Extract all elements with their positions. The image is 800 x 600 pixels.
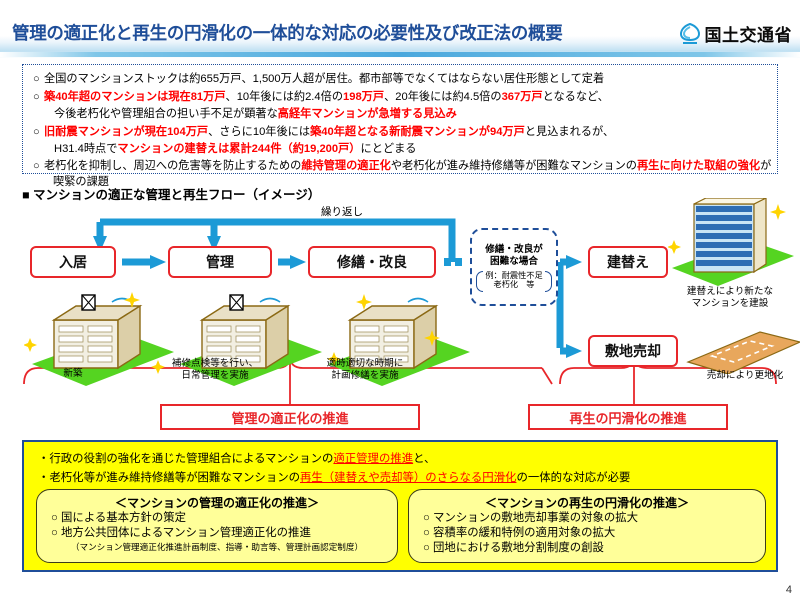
group-box-renewal-promotion[interactable]: 再生の円滑化の推進	[528, 404, 728, 430]
subbox-renewal-item-2: ○ 団地における敷地分割制度の創設	[423, 541, 765, 556]
subbox-renewal-title: ＜マンションの再生の円滑化の推進＞	[409, 494, 765, 511]
subbox-management-item-1: ○ 地方公共団体によるマンション管理適正化の推進	[51, 526, 397, 541]
summary-line-2: ・老朽化等が進み維持修繕等が困難なマンションの再生（建替えや売却等）のさらなる円…	[38, 469, 630, 485]
loop-label: 繰り返し	[212, 204, 472, 219]
caption-planned-rep-1: 適時適切な時期に	[290, 358, 440, 370]
fact-item-3: ○旧耐震マンションが現在104万戸、さらに10年後には築40年超となる新耐震マン…	[33, 125, 614, 140]
header-divider	[0, 52, 800, 57]
caption-daily-mgmt-2: 日常管理を実施	[140, 370, 290, 382]
bullet-ring-icon: ○	[33, 126, 44, 140]
flow-node-rebuild[interactable]: 建替え	[588, 246, 668, 278]
flow-node-repair[interactable]: 修繕・改良	[308, 246, 436, 278]
subbox-management: ＜マンションの管理の適正化の推進＞ ○ 国による基本方針の策定 ○ 地方公共団体…	[36, 489, 398, 563]
fact-text-em: 築40年超のマンションは現在81万戸	[44, 91, 226, 103]
page-number: 4	[786, 584, 792, 596]
rebuild-illustration	[668, 198, 798, 288]
subbox-renewal: ＜マンションの再生の円滑化の推進＞ ○ マンションの敷地売却事業の対象の拡大 ○…	[408, 489, 766, 563]
condition-line-2: 困難な場合	[490, 256, 538, 268]
summary-panel: ・行政の役割の強化を通じた管理組合によるマンションの適正管理の推進と、 ・老朽化…	[22, 440, 778, 572]
subbox-renewal-item-0: ○ マンションの敷地売却事業の対象の拡大	[423, 511, 765, 526]
caption-new-build: 新築	[28, 368, 118, 380]
vacant-lot-illustration	[684, 328, 800, 374]
mlit-logo-icon	[679, 22, 701, 46]
flow-node-land-sale[interactable]: 敷地売却	[588, 335, 678, 367]
bullet-ring-icon: ○	[33, 73, 44, 87]
condition-line-1: 修繕・改良が	[485, 244, 543, 256]
page-title: 管理の適正化と再生の円滑化の一体的な対応の必要性及び改正法の概要	[12, 20, 562, 45]
ministry-name: 国土交通省	[705, 21, 793, 46]
caption-rebuild-2: マンションを建設	[660, 298, 800, 310]
fact-text: 全国のマンションストックは約655万戸、1,500万人超が居住。都市部等でなくて…	[44, 73, 604, 85]
summary-line-1: ・行政の役割の強化を通じた管理組合によるマンションの適正管理の推進と、	[38, 450, 435, 466]
ministry-branding: 国土交通省	[679, 21, 793, 46]
flow-node-move-in[interactable]: 入居	[30, 246, 116, 278]
caption-planned-rep-2: 計画修繕を実施	[290, 370, 440, 382]
subbox-management-title: ＜マンションの管理の適正化の推進＞	[37, 494, 397, 511]
bullet-ring-icon: ○	[33, 160, 44, 174]
group-box-management-promotion[interactable]: 管理の適正化の推進	[160, 404, 420, 430]
flow-diagram: 繰り返し 入居 管理 修繕・改良 建替え 敷地売却 修繕・改良が 困難な場合 例…	[0, 198, 800, 438]
fact-item-1: ○全国のマンションストックは約655万戸、1,500万人超が居住。都市部等でなく…	[33, 72, 604, 87]
slide-header: 管理の適正化と再生の円滑化の一体的な対応の必要性及び改正法の概要 国土交通省	[0, 0, 800, 58]
fact-item-4: ○老朽化を抑制し、周辺への危害等を防止するための維持管理の適正化や老朽化が進み維…	[33, 159, 771, 174]
caption-rebuild-1: 建替えにより新たな	[660, 286, 800, 298]
fact-item-2: ○築40年超のマンションは現在81万戸、10年後には約2.4倍の198万戸、20…	[33, 90, 609, 105]
caption-vacant-lot: 売却により更地化	[680, 370, 800, 382]
subbox-renewal-item-1: ○ 容積率の緩和特例の適用対象の拡大	[423, 526, 765, 541]
subbox-management-item-0: ○ 国による基本方針の策定	[51, 511, 397, 526]
flow-node-management[interactable]: 管理	[168, 246, 272, 278]
condition-example-line-1: 例：耐震性不足	[485, 271, 542, 281]
caption-daily-mgmt-1: 補修点検等を行い、	[140, 358, 290, 370]
key-facts-panel: ○全国のマンションストックは約655万戸、1,500万人超が居住。都市部等でなく…	[22, 64, 778, 174]
fact-item-2-cont: 今後老朽化や管理組合の担い手不足が顕著な高経年マンションが急増する見込み	[33, 107, 457, 121]
subbox-management-note: （マンション管理適正化推進計画制度、指導・助言等、管理計画認定制度）	[37, 541, 397, 553]
fact-item-3-cont: H31.4時点でマンションの建替えは累計244件（約19,200戸）にとどまる	[33, 142, 416, 156]
bullet-ring-icon: ○	[33, 91, 44, 105]
